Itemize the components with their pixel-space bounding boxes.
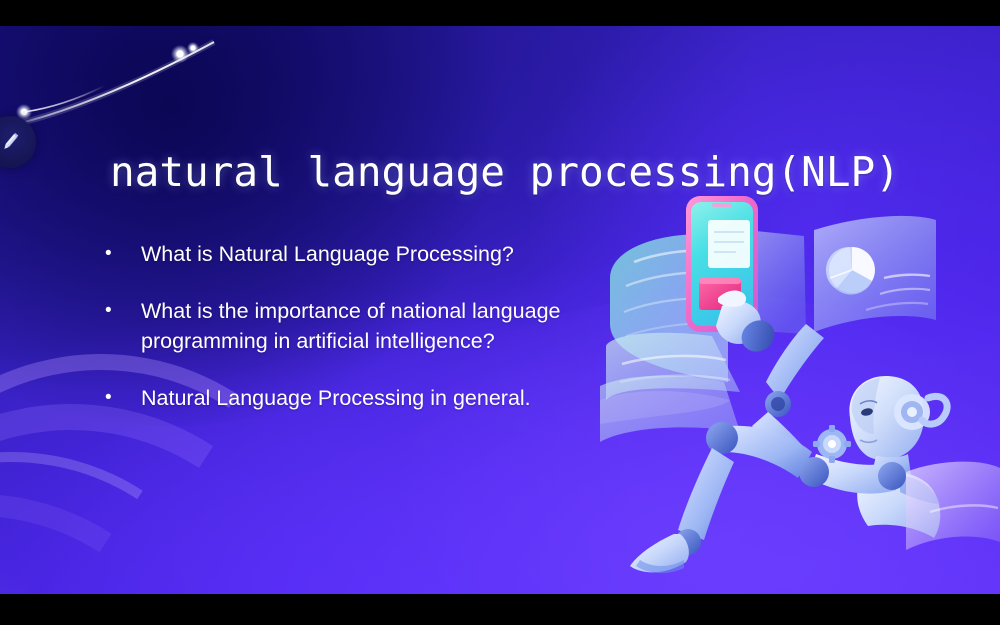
list-item: • What is the importance of national lan… [100, 296, 620, 356]
page-title: natural language processing(NLP) [110, 146, 900, 198]
phone-notch [712, 203, 732, 207]
curve-dot-glow-1 [171, 45, 189, 63]
bullet-list: • What is Natural Language Processing? •… [100, 239, 620, 440]
list-item: • Natural Language Processing in general… [100, 383, 620, 413]
curve-dot-glow-2 [187, 42, 199, 54]
ribbon-glow [0, 524, 140, 594]
bullet-text: What is the importance of national langu… [141, 296, 620, 356]
robot-hip-joint [799, 457, 829, 487]
bullet-text: Natural Language Processing in general. [141, 383, 620, 413]
illustration-svg [600, 186, 1000, 594]
robot-right-knee-joint [878, 462, 906, 490]
curve-dot-1 [176, 50, 183, 57]
robot-knee-joint [706, 422, 738, 454]
glowing-curve-line-halo [0, 42, 214, 130]
pencil-icon [0, 127, 25, 157]
robot-shin [678, 448, 734, 540]
pencil-badge[interactable] [0, 116, 36, 168]
ribbon-band-4 [0, 448, 270, 594]
list-item: • What is Natural Language Processing? [100, 239, 620, 269]
robot-ear-swirl-icon [894, 394, 947, 430]
curve-dot-2 [191, 46, 196, 51]
letterbox-top [0, 0, 1000, 26]
curve-dot-3 [21, 109, 27, 115]
letterbox-bottom [0, 594, 1000, 625]
glowing-curve-line [0, 42, 214, 130]
bullet-marker: • [100, 296, 141, 326]
bullet-marker: • [100, 239, 141, 269]
glowing-curve-line-short [24, 86, 104, 112]
slide-canvas: natural language processing(NLP) • What … [0, 26, 1000, 594]
bullet-text: What is Natural Language Processing? [141, 239, 620, 269]
presentation-slide-viewport: natural language processing(NLP) • What … [0, 0, 1000, 625]
robot-forearm [766, 324, 824, 400]
phone-card-white [708, 220, 750, 268]
bullet-marker: • [100, 383, 141, 413]
robot-touching-phone-illustration [600, 186, 1000, 594]
